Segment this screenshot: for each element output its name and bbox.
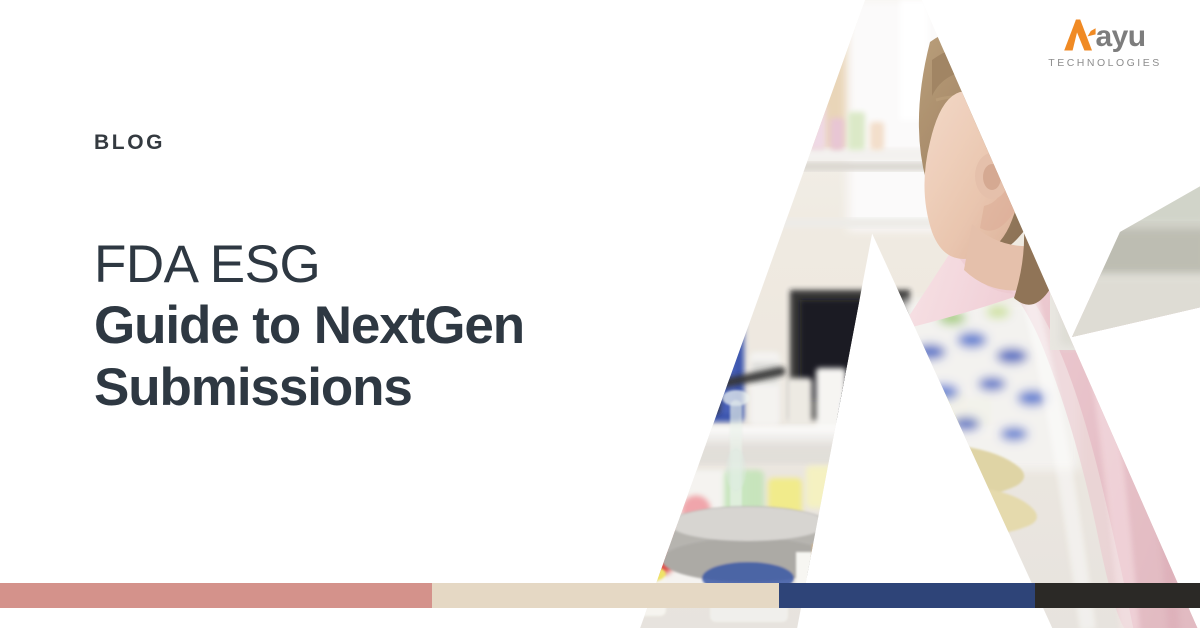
segment-cream — [432, 583, 779, 608]
logo-wordmark: ayu — [1096, 22, 1146, 52]
headline-block: BLOG FDA ESG Guide to NextGen Submission… — [94, 132, 634, 419]
page-title-line-2: Submissions — [94, 357, 634, 419]
aayu-a-icon — [1063, 18, 1097, 52]
logo-mark-row: ayu — [1042, 18, 1166, 52]
segment-blue — [779, 583, 1035, 608]
page-title-bold: Guide to NextGen Submissions — [94, 295, 634, 419]
blog-banner: BLOG FDA ESG Guide to NextGen Submission… — [0, 0, 1200, 628]
segment-dark — [1035, 583, 1200, 608]
brand-logo[interactable]: ayu TECHNOLOGIES — [1042, 18, 1166, 69]
accent-color-bar — [0, 583, 1200, 608]
a-monogram-artwork — [600, 0, 1200, 628]
eyebrow-label: BLOG — [94, 132, 634, 153]
hero-artwork — [600, 0, 1200, 628]
logo-tagline: TECHNOLOGIES — [1042, 57, 1166, 69]
page-title-line-1: Guide to NextGen — [94, 295, 634, 357]
segment-rose — [0, 583, 432, 608]
page-title-light: FDA ESG — [94, 237, 634, 293]
clipped-photo — [600, 0, 1200, 628]
